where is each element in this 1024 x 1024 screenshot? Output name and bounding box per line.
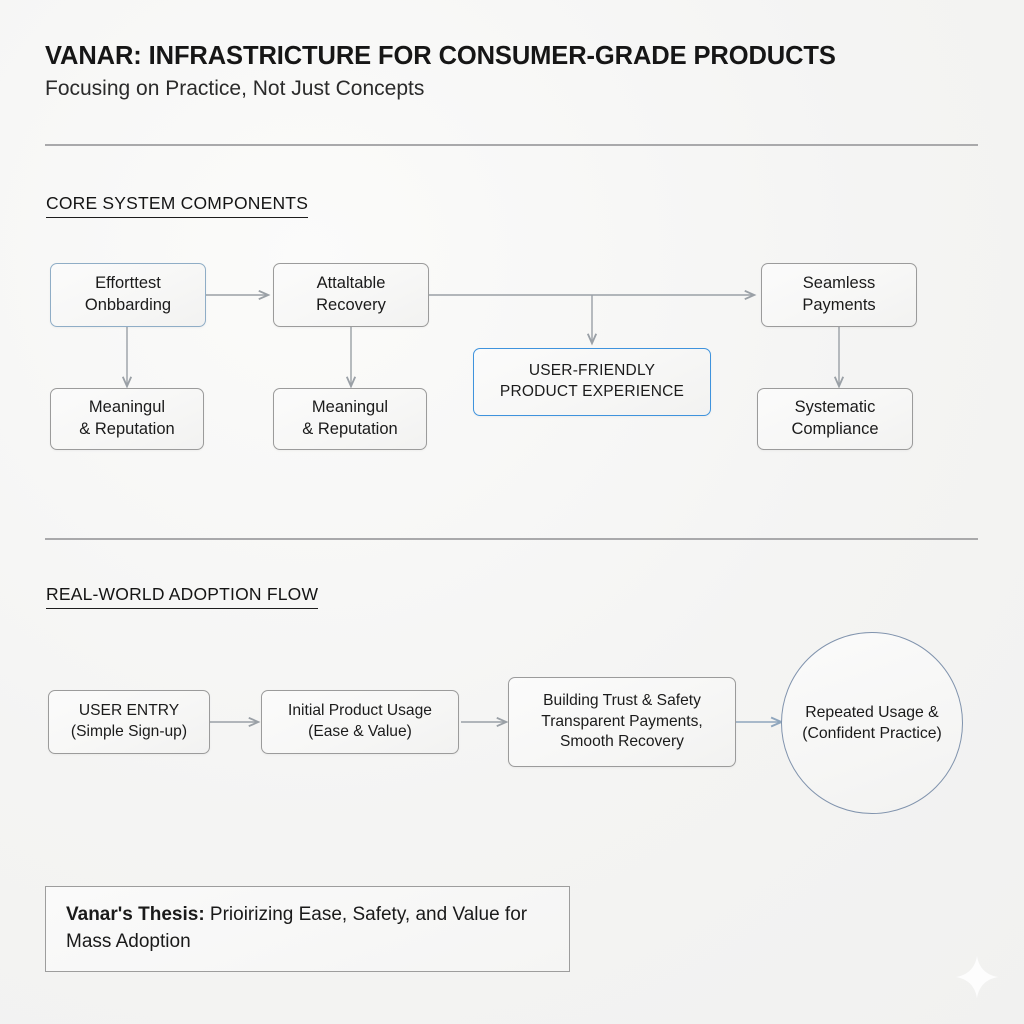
node-building-trust-safety[interactable]: Building Trust & Safety Transparent Paym… [508, 677, 736, 767]
node-systematic-compliance[interactable]: Systematic Compliance [757, 388, 913, 450]
sparkle-icon [954, 954, 1000, 1000]
node-meaningful-reputation-left[interactable]: Meaningul & Reputation [50, 388, 204, 450]
node-repeated-usage[interactable]: Repeated Usage & (Confident Practice) [781, 632, 963, 814]
page-subtitle: Focusing on Practice, Not Just Concepts [45, 77, 424, 101]
divider-top [45, 144, 978, 146]
section-heading-adoption-flow: REAL-WORLD ADOPTION FLOW [46, 584, 318, 609]
node-user-friendly-product-experience[interactable]: USER-FRIENDLY PRODUCT EXPERIENCE [473, 348, 711, 416]
node-seamless-payments[interactable]: Seamless Payments [761, 263, 917, 327]
node-initial-product-usage[interactable]: Initial Product Usage (Ease & Value) [261, 690, 459, 754]
thesis-statement: Vanar's Thesis: Prioirizing Ease, Safety… [45, 886, 570, 972]
page-title: VANAR: INFRASTRICTURE FOR CONSUMER-GRADE… [45, 42, 836, 71]
diagram-canvas: VANAR: INFRASTRICTURE FOR CONSUMER-GRADE… [0, 0, 1024, 1024]
divider-middle [45, 538, 978, 540]
core-connectors [0, 0, 1024, 1024]
node-effortless-onboarding[interactable]: Efforttest Onbbarding [50, 263, 206, 327]
section-heading-core-system: CORE SYSTEM COMPONENTS [46, 193, 308, 218]
node-attainable-recovery[interactable]: Attaltable Recovery [273, 263, 429, 327]
node-meaningful-reputation-mid[interactable]: Meaningul & Reputation [273, 388, 427, 450]
node-user-entry[interactable]: USER ENTRY (Simple Sign-up) [48, 690, 210, 754]
thesis-label: Vanar's Thesis: [66, 904, 205, 925]
